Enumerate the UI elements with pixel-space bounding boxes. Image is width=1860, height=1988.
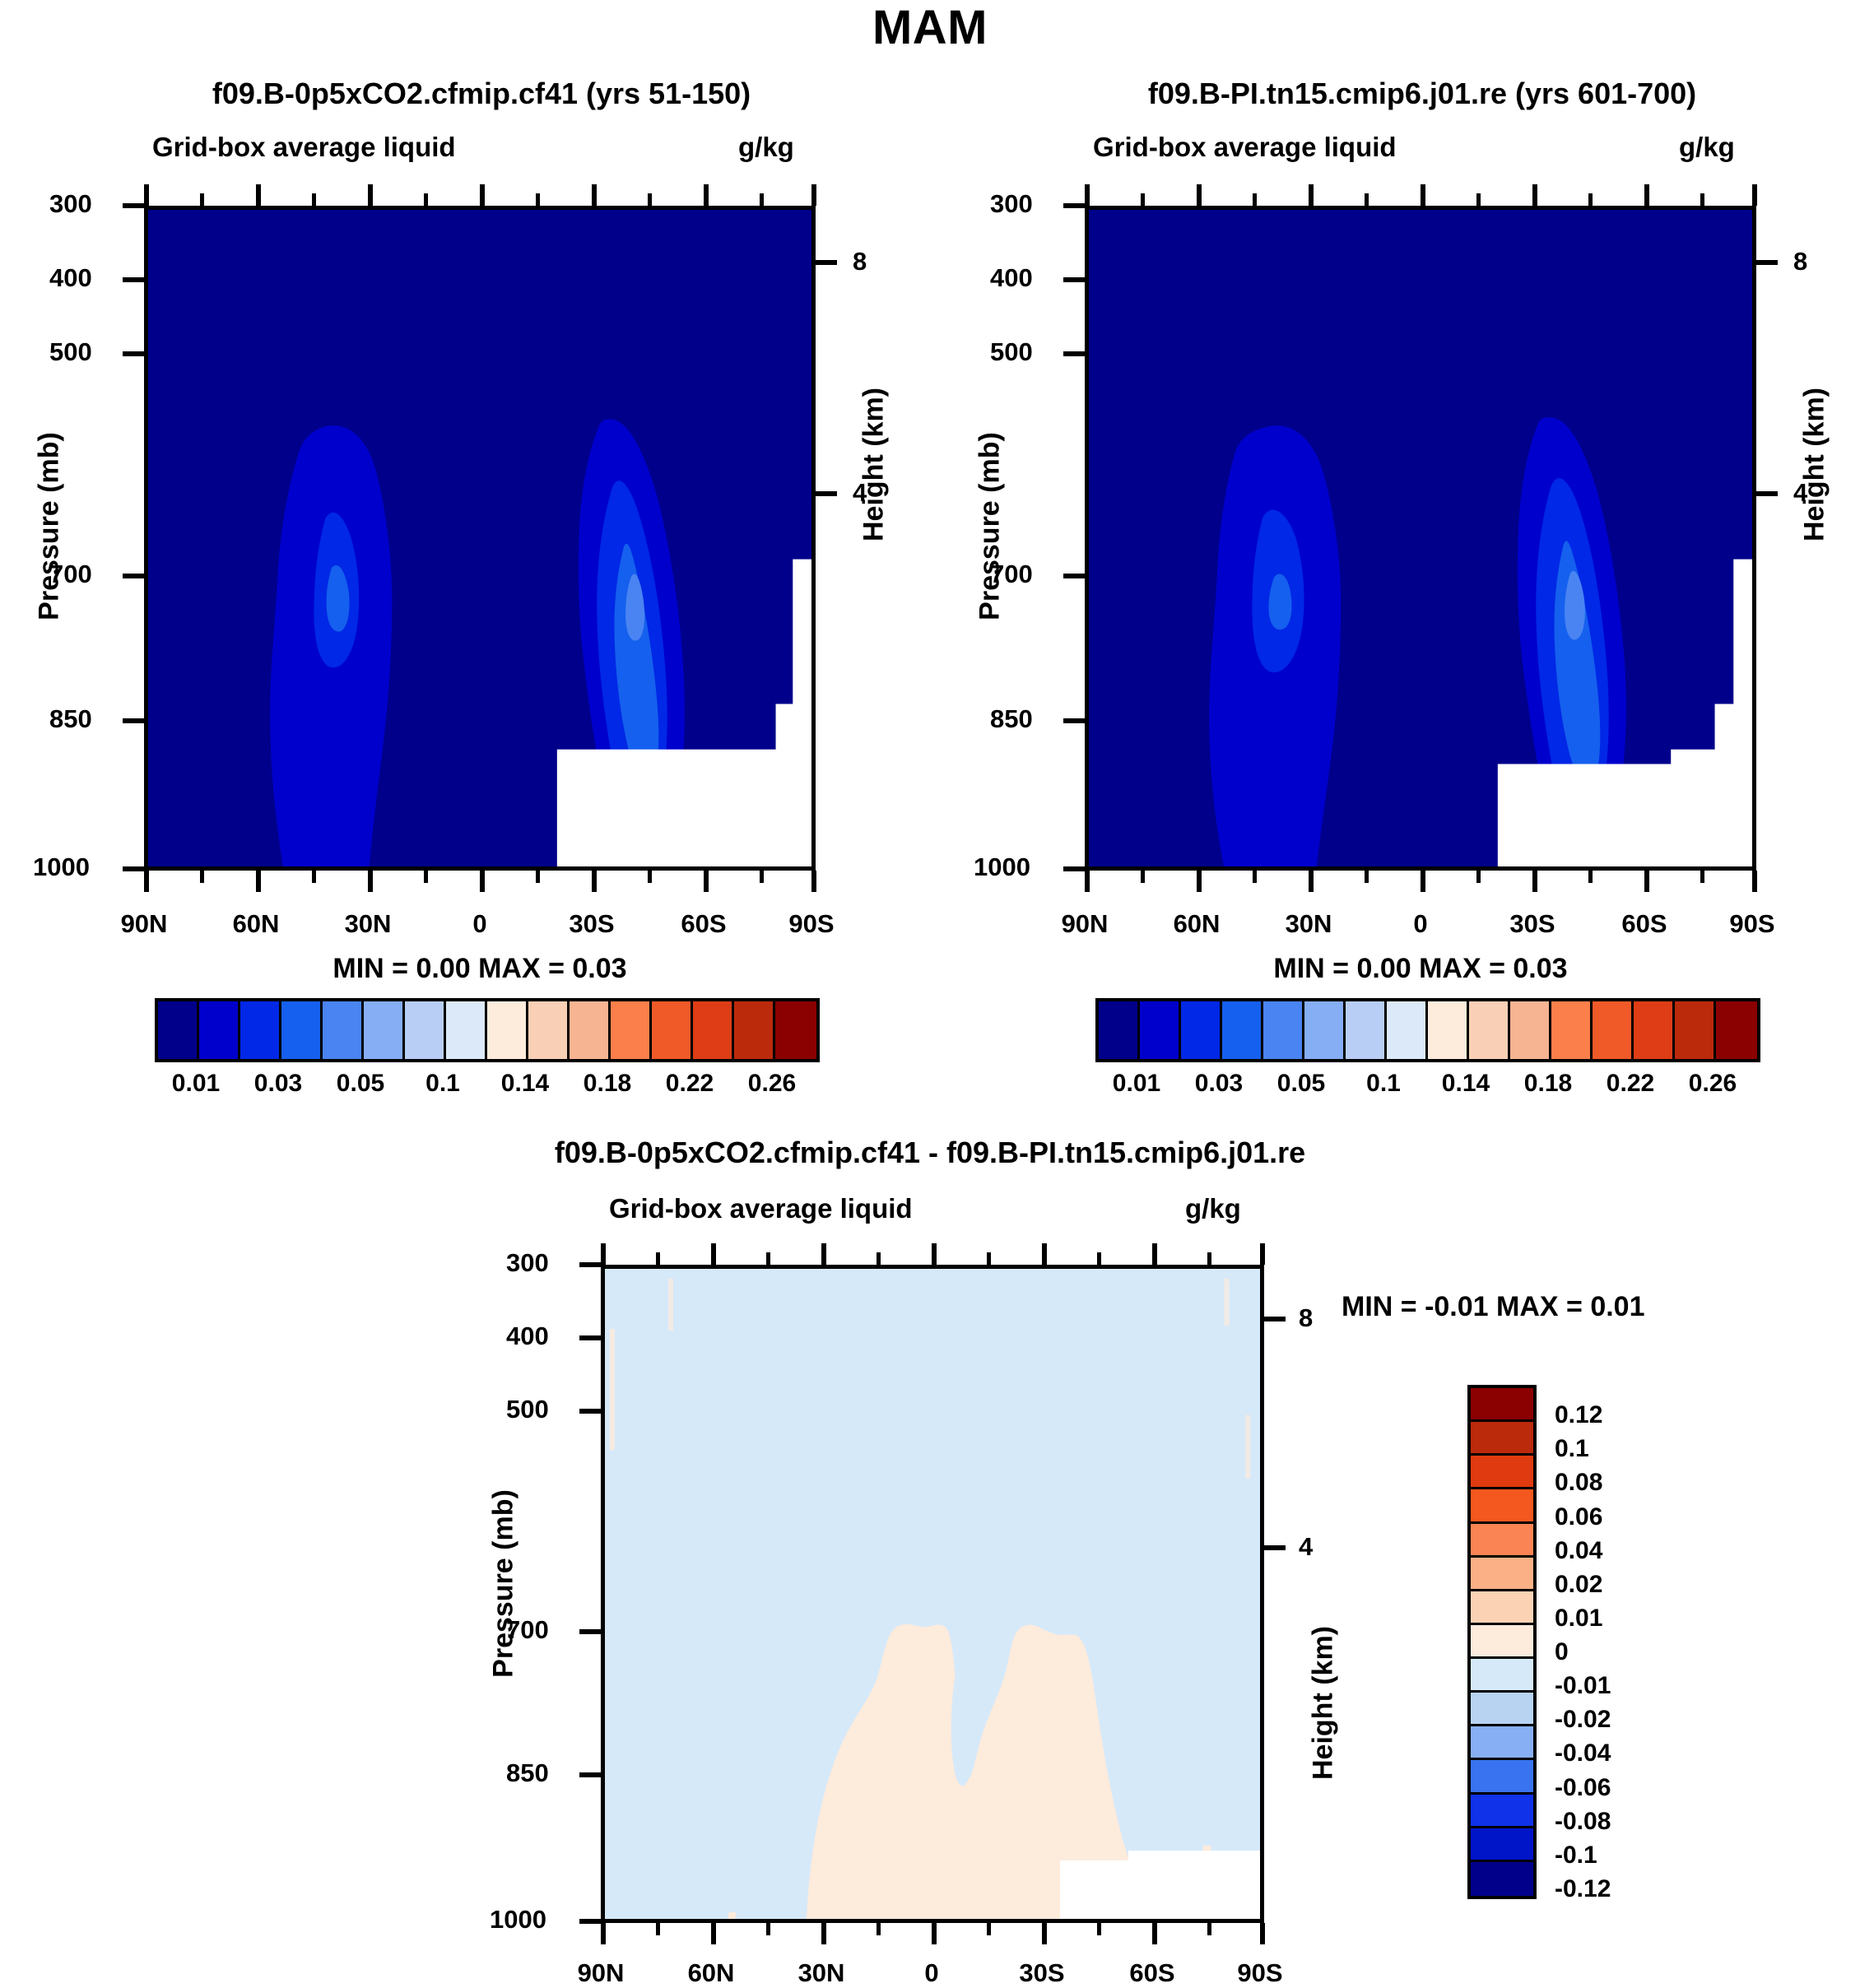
right-panel-unit-label: g/kg: [1679, 132, 1735, 163]
right-panel-ylabel-500: 500: [990, 337, 1033, 367]
difference-panel-top-tick: [1152, 1243, 1157, 1265]
colorbar-swatch: [1471, 1625, 1533, 1659]
colorbar-tick-label: -0.12: [1555, 1875, 1678, 1903]
left-panel-y2tick-4: [816, 491, 837, 496]
difference-panel-top-tick: [711, 1243, 716, 1265]
colorbar-swatch: [364, 1001, 405, 1059]
colorbar-swatch: [487, 1001, 528, 1059]
right-panel-top-tick: [1085, 184, 1090, 206]
right-panel-top-tick: [1532, 184, 1537, 206]
difference-panel-y2tick-4: [1264, 1545, 1286, 1550]
colorbar-swatch: [693, 1001, 734, 1059]
difference-panel-xtick-0: [932, 1923, 937, 1944]
right-panel-top-tick: [1644, 184, 1649, 206]
left-panel-top-tick: [424, 193, 428, 206]
left-panel-xlabel-90S: 90S: [766, 909, 857, 939]
colorbar-swatch: [1471, 1422, 1533, 1456]
colorbar-tick-label: 0.26: [1663, 1070, 1762, 1098]
left-panel-top-tick: [256, 184, 261, 206]
difference-panel-xlabel-30N: 30N: [776, 1958, 867, 1988]
right-panel-plot-area: [1085, 206, 1756, 871]
difference-panel-top-tick: [766, 1252, 770, 1265]
left-panel-xlabel-30N: 30N: [323, 909, 413, 939]
right-panel-xlabel-30N: 30N: [1263, 909, 1354, 939]
right-panel-ytick-300: [1063, 203, 1085, 208]
right-panel-top-tick: [1752, 184, 1757, 206]
colorbar-swatch: [1471, 1558, 1533, 1591]
right-panel-ytick-700: [1063, 574, 1085, 578]
right-panel-title: f09.B-PI.tn15.cmip6.j01.re (yrs 601-700): [1019, 77, 1825, 111]
right-panel-xtick-minor: [1253, 871, 1257, 883]
right-panel-top-tick: [1588, 193, 1593, 206]
right-panel-y2tick-8: [1756, 260, 1778, 265]
left-panel-top-tick: [760, 193, 764, 206]
difference-panel-top-tick: [821, 1243, 826, 1265]
difference-panel-y2label-8: 8: [1299, 1303, 1313, 1333]
left-panel-top-tick: [704, 184, 709, 206]
right-panel-xtick-90N: [1085, 871, 1090, 892]
right-panel-xtick-60N: [1197, 871, 1202, 892]
difference-panel-xtick-90S: [1260, 1923, 1265, 1944]
right-panel-xtick-90S: [1752, 871, 1757, 892]
left-panel-xlabel-30S: 30S: [546, 909, 637, 939]
left-panel-top-tick: [312, 193, 316, 206]
left-panel-xtick-minor: [200, 871, 204, 883]
left-panel-top-tick: [592, 184, 597, 206]
right-panel-ylabel-400: 400: [990, 263, 1033, 293]
left-panel-colorbar[interactable]: [155, 998, 820, 1062]
colorbar-swatch: [528, 1001, 570, 1059]
right-panel-xlabel-90S: 90S: [1707, 909, 1797, 939]
right-panel-xtick-minor: [1476, 871, 1481, 883]
right-panel-ytick-1000: [1063, 866, 1085, 871]
right-panel-ylabel-850: 850: [990, 704, 1033, 734]
colorbar-tick-label: 0.02: [1555, 1571, 1678, 1599]
right-panel-xtick-0: [1421, 871, 1425, 892]
colorbar-swatch: [1140, 1001, 1181, 1059]
colorbar-swatch: [1181, 1001, 1222, 1059]
right-panel-top-tick: [1365, 193, 1369, 206]
colorbar-swatch: [1346, 1001, 1387, 1059]
colorbar-tick-label: 0.12: [1555, 1401, 1678, 1429]
right-panel-top-tick: [1253, 193, 1257, 206]
left-panel-ytick-400: [123, 277, 144, 282]
difference-panel-xlabel-60N: 60N: [666, 1958, 756, 1988]
difference-panel-xtick-minor: [987, 1923, 991, 1935]
difference-panel-title: f09.B-0p5xCO2.cfmip.cf41 - f09.B-PI.tn15…: [272, 1136, 1588, 1170]
left-panel-xtick-minor: [312, 871, 316, 883]
right-panel-xtick-minor: [1700, 871, 1704, 883]
right-panel-xtick-30N: [1309, 871, 1314, 892]
left-panel-ylabel-400: 400: [49, 263, 92, 293]
left-panel-ylabel-1000: 1000: [33, 852, 90, 882]
left-panel-y2-axis-title: Height (km): [858, 341, 890, 588]
right-panel-ytick-400: [1063, 277, 1085, 282]
left-panel-ylabel-850: 850: [49, 704, 92, 734]
difference-panel-xlabel-90N: 90N: [556, 1958, 646, 1988]
colorbar-swatch: [1471, 1828, 1533, 1862]
colorbar-swatch: [734, 1001, 775, 1059]
difference-panel-top-tick: [1260, 1243, 1265, 1265]
left-panel-xtick-minor: [760, 871, 764, 883]
left-panel-ylabel-500: 500: [49, 337, 92, 367]
colorbar-swatch: [1099, 1001, 1140, 1059]
right-panel-top-tick: [1309, 184, 1314, 206]
right-panel-xlabel-60S: 60S: [1599, 909, 1690, 939]
difference-panel-y2-axis-title: Height (km): [1308, 1580, 1340, 1827]
right-panel-y2-axis-title: Height (km): [1799, 341, 1831, 588]
difference-panel-xtick-minor: [656, 1923, 660, 1935]
colorbar-swatch: [281, 1001, 323, 1059]
difference-panel-variable-label: Grid-box average liquid: [609, 1193, 913, 1224]
left-panel-ytick-850: [123, 718, 144, 723]
left-panel-xtick-minor: [536, 871, 540, 883]
difference-panel-xlabel-60S: 60S: [1107, 1958, 1197, 1988]
colorbar-swatch: [1428, 1001, 1469, 1059]
colorbar-swatch: [1593, 1001, 1634, 1059]
colorbar-swatch: [1263, 1001, 1304, 1059]
left-panel-plot-area: [144, 206, 816, 871]
left-panel-ytick-700: [123, 574, 144, 578]
left-panel-variable-label: Grid-box average liquid: [152, 132, 456, 163]
right-panel-xtick-minor: [1141, 871, 1145, 883]
colorbar-tick-label: -0.04: [1555, 1739, 1678, 1767]
right-panel-y2label-8: 8: [1793, 247, 1807, 276]
colorbar-swatch: [1222, 1001, 1263, 1059]
right-panel-y-axis-title: Pressure (mb): [974, 403, 1007, 650]
difference-panel-top-tick: [1042, 1243, 1047, 1265]
left-panel-top-tick: [648, 193, 652, 206]
left-panel-y2label-8: 8: [853, 247, 867, 276]
left-panel-top-tick: [536, 193, 540, 206]
difference-panel-ylabel-850: 850: [506, 1758, 549, 1788]
difference-panel-plot-area: [601, 1265, 1264, 1923]
left-panel-y2tick-8: [816, 260, 837, 265]
right-panel-xtick-30S: [1532, 871, 1537, 892]
difference-panel-y-axis-title: Pressure (mb): [488, 1461, 520, 1707]
left-panel-top-tick: [480, 184, 485, 206]
right-panel-minmax: MIN = 0.00 MAX = 0.03: [1085, 953, 1756, 985]
difference-panel-top-tick: [932, 1243, 937, 1265]
left-panel-xlabel-60S: 60S: [658, 909, 749, 939]
left-panel-ylabel-300: 300: [49, 189, 92, 219]
colorbar-swatch: [1471, 1524, 1533, 1558]
colorbar-swatch: [1304, 1001, 1346, 1059]
colorbar-swatch: [1471, 1693, 1533, 1726]
difference-panel-xtick-minor: [1207, 1923, 1211, 1935]
left-panel-xtick-90S: [811, 871, 816, 892]
colorbar-tick-label: -0.02: [1555, 1706, 1678, 1734]
colorbar-tick-label: 0.26: [723, 1070, 821, 1098]
difference-panel-xlabel-30S: 30S: [997, 1958, 1087, 1988]
difference-colorbar[interactable]: [1467, 1385, 1537, 1899]
right-panel-top-tick: [1197, 184, 1202, 206]
colorbar-swatch: [240, 1001, 281, 1059]
left-panel-unit-label: g/kg: [738, 132, 794, 163]
right-panel-ylabel-1000: 1000: [974, 852, 1030, 882]
colorbar-swatch: [1471, 1659, 1533, 1693]
colorbar-tick-label: -0.01: [1555, 1672, 1678, 1700]
colorbar-swatch: [1387, 1001, 1428, 1059]
colorbar-swatch: [1716, 1001, 1757, 1059]
difference-panel-ytick-700: [579, 1629, 601, 1634]
colorbar-tick-label: 0.04: [1555, 1537, 1678, 1565]
colorbar-tick-label: -0.06: [1555, 1774, 1678, 1802]
left-panel-xtick-60N: [256, 871, 261, 892]
right-panel-y2tick-4: [1756, 491, 1778, 496]
colorbar-swatch: [1471, 1489, 1533, 1523]
right-panel-xlabel-60N: 60N: [1151, 909, 1242, 939]
colorbar-swatch: [570, 1001, 611, 1059]
difference-panel-top-tick: [656, 1252, 660, 1265]
difference-panel-ytick-1000: [579, 1919, 601, 1924]
colorbar-swatch: [199, 1001, 240, 1059]
difference-panel-ylabel-500: 500: [506, 1395, 549, 1424]
right-panel-xlabel-0: 0: [1375, 909, 1466, 939]
left-panel-xtick-60S: [704, 871, 709, 892]
right-panel-ytick-500: [1063, 351, 1085, 356]
left-panel-xtick-90N: [144, 871, 149, 892]
difference-panel-xtick-minor: [766, 1923, 770, 1935]
difference-panel-minmax: MIN = -0.01 MAX = 0.01: [1342, 1291, 1645, 1323]
colorbar-tick-label: -0.08: [1555, 1808, 1678, 1836]
colorbar-swatch: [1471, 1760, 1533, 1794]
colorbar-swatch: [1510, 1001, 1551, 1059]
left-panel-top-tick: [144, 184, 149, 206]
right-panel-colorbar[interactable]: [1095, 998, 1760, 1062]
colorbar-swatch: [1471, 1456, 1533, 1489]
left-panel-xlabel-0: 0: [435, 909, 525, 939]
left-panel-minmax: MIN = 0.00 MAX = 0.03: [144, 953, 816, 985]
difference-panel-xlabel-0: 0: [886, 1958, 977, 1988]
right-panel-top-tick: [1700, 193, 1704, 206]
right-panel-xlabel-30S: 30S: [1487, 909, 1578, 939]
difference-panel-top-tick: [877, 1252, 881, 1265]
difference-panel-xtick-60N: [711, 1923, 716, 1944]
colorbar-swatch: [1551, 1001, 1593, 1059]
colorbar-tick-label: 0.08: [1555, 1469, 1678, 1497]
colorbar-swatch: [775, 1001, 816, 1059]
colorbar-tick-label: 0.06: [1555, 1503, 1678, 1531]
difference-panel-top-tick: [1097, 1252, 1101, 1265]
colorbar-swatch: [1471, 1795, 1533, 1828]
difference-panel-xtick-30S: [1042, 1923, 1047, 1944]
colorbar-swatch: [652, 1001, 693, 1059]
difference-panel-ytick-400: [579, 1335, 601, 1340]
difference-panel-ylabel-300: 300: [506, 1248, 549, 1278]
left-panel-xtick-30S: [592, 871, 597, 892]
difference-panel-top-tick: [987, 1252, 991, 1265]
left-panel-xtick-0: [480, 871, 485, 892]
left-panel-title: f09.B-0p5xCO2.cfmip.cf41 (yrs 51-150): [78, 77, 885, 111]
right-panel-xtick-minor: [1365, 871, 1369, 883]
difference-panel-ylabel-400: 400: [506, 1321, 549, 1351]
right-panel-top-tick: [1421, 184, 1425, 206]
left-panel-top-tick: [200, 193, 204, 206]
right-panel-ytick-850: [1063, 718, 1085, 723]
colorbar-swatch: [1471, 1862, 1533, 1896]
left-panel-xlabel-90N: 90N: [99, 909, 189, 939]
difference-panel-xtick-30N: [821, 1923, 826, 1944]
colorbar-tick-label: 0.1: [1555, 1435, 1678, 1463]
difference-panel-xtick-minor: [1097, 1923, 1101, 1935]
right-panel-top-tick: [1141, 193, 1145, 206]
right-panel-xtick-60S: [1644, 871, 1649, 892]
season-title: MAM: [0, 0, 1860, 55]
left-panel-top-tick: [811, 184, 816, 206]
difference-panel-top-tick: [601, 1243, 606, 1265]
left-panel-ytick-1000: [123, 866, 144, 871]
colorbar-swatch: [1471, 1591, 1533, 1625]
left-panel-top-tick: [368, 184, 373, 206]
right-panel-xtick-minor: [1588, 871, 1593, 883]
difference-panel-y2label-4: 4: [1299, 1532, 1313, 1562]
colorbar-tick-label: -0.1: [1555, 1842, 1678, 1870]
difference-panel-ylabel-1000: 1000: [490, 1905, 546, 1935]
left-panel-ytick-300: [123, 203, 144, 208]
difference-panel-y2tick-8: [1264, 1317, 1286, 1321]
difference-panel-ytick-500: [579, 1409, 601, 1414]
right-panel-top-tick: [1476, 193, 1481, 206]
difference-panel-xtick-90N: [601, 1923, 606, 1944]
left-panel-y-axis-title: Pressure (mb): [34, 403, 66, 650]
difference-panel-ytick-850: [579, 1772, 601, 1777]
difference-panel-xtick-60S: [1152, 1923, 1157, 1944]
difference-panel-xtick-minor: [877, 1923, 881, 1935]
colorbar-swatch: [405, 1001, 446, 1059]
colorbar-tick-label: 0: [1555, 1638, 1678, 1666]
difference-panel-top-tick: [1207, 1252, 1211, 1265]
difference-panel-unit-label: g/kg: [1185, 1193, 1241, 1224]
colorbar-swatch: [1634, 1001, 1675, 1059]
colorbar-swatch: [446, 1001, 487, 1059]
left-panel-ytick-500: [123, 351, 144, 356]
right-panel-xlabel-90N: 90N: [1039, 909, 1130, 939]
colorbar-swatch: [1675, 1001, 1716, 1059]
right-panel-ylabel-300: 300: [990, 189, 1033, 219]
colorbar-swatch: [1469, 1001, 1510, 1059]
right-panel-variable-label: Grid-box average liquid: [1093, 132, 1397, 163]
colorbar-swatch: [1471, 1726, 1533, 1760]
colorbar-swatch: [1471, 1388, 1533, 1422]
left-panel-xlabel-60N: 60N: [211, 909, 301, 939]
left-panel-xtick-30N: [368, 871, 373, 892]
difference-panel-xlabel-90S: 90S: [1215, 1958, 1305, 1988]
colorbar-tick-label: 0.01: [1555, 1605, 1678, 1633]
left-panel-xtick-minor: [648, 871, 652, 883]
difference-panel-ytick-300: [579, 1262, 601, 1267]
colorbar-swatch: [323, 1001, 364, 1059]
colorbar-swatch: [158, 1001, 199, 1059]
colorbar-swatch: [611, 1001, 652, 1059]
left-panel-xtick-minor: [424, 871, 428, 883]
